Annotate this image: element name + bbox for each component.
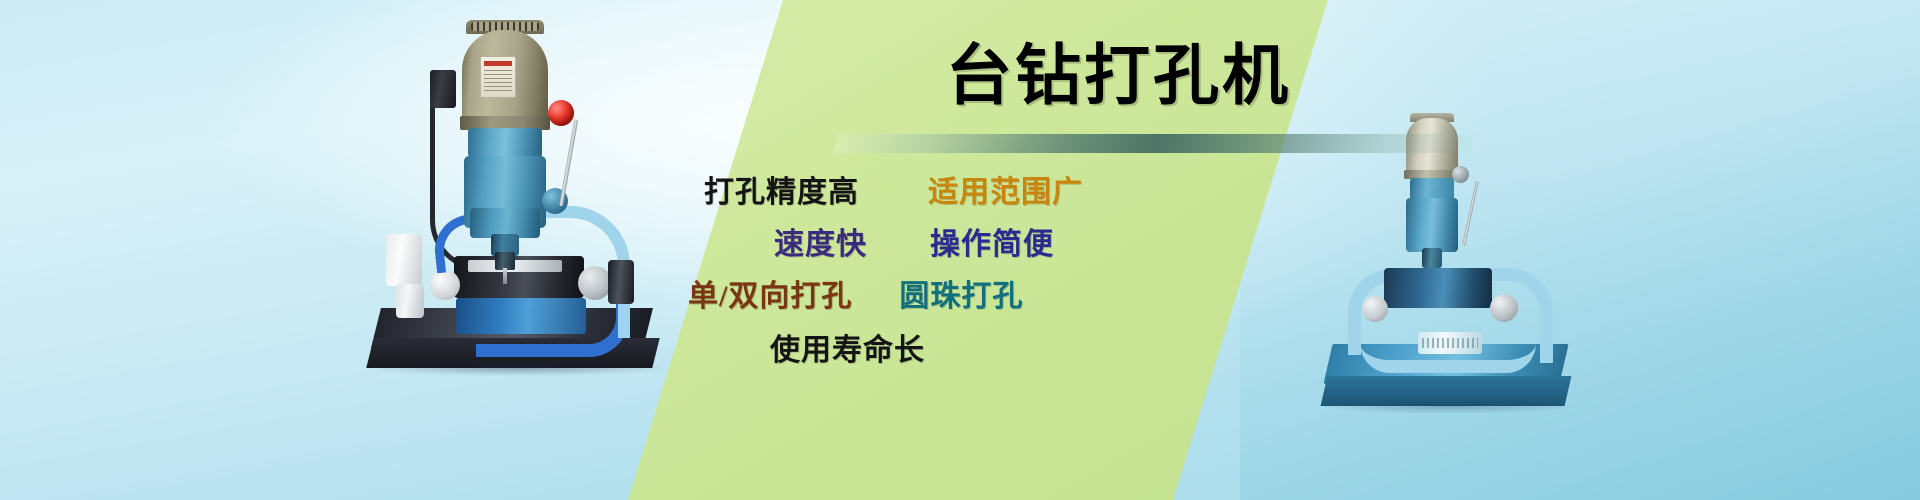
secondary-drill-quill xyxy=(1422,248,1442,268)
feed-lever-knob xyxy=(548,100,574,126)
side-motor-block xyxy=(608,260,634,304)
machine-base-shadow xyxy=(368,360,668,376)
feature-row-3: 单/双向打孔 圆珠打孔 xyxy=(688,282,1023,312)
secondary-fixture xyxy=(1384,268,1492,308)
page-title: 台钻打孔机 xyxy=(946,44,1291,110)
product-photo-secondary xyxy=(1322,118,1582,418)
feature-row-1: 打孔精度高 适用范围广 xyxy=(704,178,1083,208)
feature-speed: 速度快 xyxy=(774,230,867,260)
secondary-label-text xyxy=(1422,338,1478,348)
feature-application-range: 适用范围广 xyxy=(928,178,1083,208)
spindle-neck xyxy=(468,128,542,158)
secondary-handwheel-left xyxy=(1362,296,1388,322)
product-photo-main xyxy=(372,8,672,380)
secondary-spindle-neck xyxy=(1410,178,1454,200)
feature-list: 打孔精度高 适用范围广 速度快 操作简便 单/双向打孔 圆珠打孔 使用寿命长 xyxy=(660,168,1340,398)
feature-single-double-drilling: 单/双向打孔 xyxy=(688,282,852,312)
feature-row-2: 速度快 操作简便 xyxy=(774,230,1054,260)
secondary-handwheel-right xyxy=(1490,294,1518,322)
control-box-secondary xyxy=(396,284,424,318)
feature-accuracy: 打孔精度高 xyxy=(704,178,859,208)
junction-box xyxy=(430,70,456,108)
handwheel-left xyxy=(430,270,460,300)
control-box xyxy=(386,234,422,286)
drill-bit xyxy=(503,268,507,284)
product-banner: 台钻打孔机 打孔精度高 适用范围广 速度快 操作简便 单/双向打孔 圆珠打孔 使… xyxy=(0,0,1920,500)
feature-row-4: 使用寿命长 xyxy=(770,336,925,366)
feature-ball-drilling: 圆珠打孔 xyxy=(899,282,1023,312)
motor-nameplate xyxy=(480,56,516,98)
feature-easy-operation: 操作简便 xyxy=(930,230,1054,260)
secondary-lever-knob xyxy=(1452,166,1469,183)
secondary-lever-rod xyxy=(1462,181,1479,246)
feature-long-service-life: 使用寿命长 xyxy=(770,336,925,366)
title-divider-highlight xyxy=(833,134,1479,153)
handwheel-right xyxy=(578,266,612,300)
secondary-base-shadow xyxy=(1322,398,1574,414)
secondary-spindle-body xyxy=(1406,198,1458,252)
feed-lever-rod xyxy=(559,119,578,206)
